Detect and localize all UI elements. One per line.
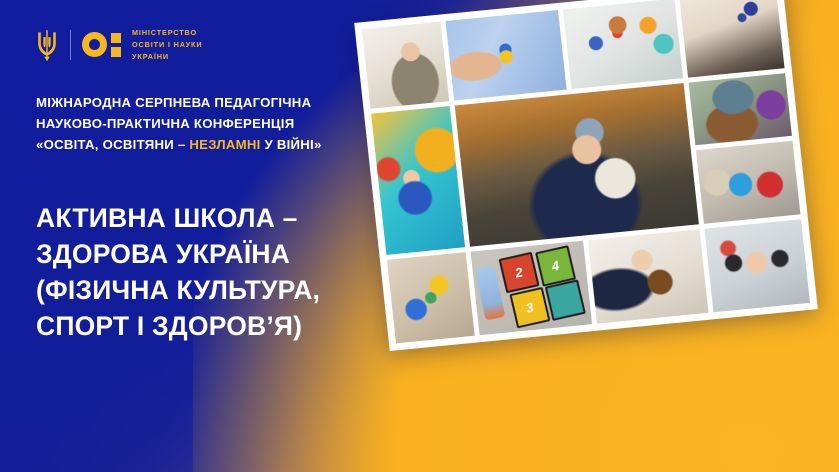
collage-photo-teacher-with-glasses <box>362 22 450 110</box>
photo-image <box>371 106 465 254</box>
collage-photo-boy-with-football <box>455 83 699 246</box>
hopscotch-tile: 3 <box>510 286 551 328</box>
photo-image <box>387 252 475 344</box>
logo-divider <box>70 30 71 60</box>
headline-line-2: ЗДОРОВА УКРАЇНА <box>36 236 320 272</box>
collage-photo-children-building-blocks <box>387 252 475 344</box>
hopscotch-tiles: 2 4 3 <box>471 240 592 335</box>
collage-photo-girl-with-headphones <box>705 219 810 312</box>
photo-image <box>705 219 810 312</box>
headline-line-1: АКТИВНА ШКОЛА – <box>36 200 320 236</box>
collage-photo-hands-typing-laptop <box>680 0 785 78</box>
photo-image <box>696 141 800 224</box>
photo-image <box>680 0 785 78</box>
photo-image <box>362 22 450 110</box>
conference-subtitle: МІЖНАРОДНА СЕРПНЕВА ПЕДАГОГІЧНА НАУКОВО-… <box>36 93 322 156</box>
collage-photo-hopscotch-numbers: 2 4 3 <box>471 240 592 335</box>
collage-photo-graduate-in-cap <box>689 73 792 145</box>
subtitle-line-3-after: У ВІЙНІ» <box>261 137 322 152</box>
mon-ring-squares-icon <box>82 32 121 57</box>
photo-image <box>563 0 684 89</box>
page-title: АКТИВНА ШКОЛА – ЗДОРОВА УКРАЇНА (ФІЗИЧНА… <box>36 200 320 344</box>
ministry-logo: МІНІСТЕРСТВО ОСВІТИ І НАУКИ УКРАЇНИ <box>36 27 202 62</box>
collage-photo-hands-ukrainian-heart <box>446 10 567 101</box>
photo-collage: 2 4 3 <box>354 0 818 351</box>
ring-glyph <box>82 32 107 57</box>
headline-line-3: (ФІЗИЧНА КУЛЬТУРА, <box>36 272 320 308</box>
photo-image <box>446 10 567 101</box>
hopscotch-tile: 2 <box>499 252 540 294</box>
collage-photo-boy-with-robot-kit <box>588 229 709 324</box>
squares-glyph <box>111 33 121 57</box>
photo-image <box>455 83 699 246</box>
subtitle-line-3: «ОСВІТА, ОСВІТЯНИ – НЕЗЛАМНІ У ВІЙНІ» <box>36 135 322 156</box>
ukraine-trident-icon <box>36 28 58 62</box>
headline-line-4: СПОРТ І ЗДОРОВ’Я) <box>36 308 320 344</box>
subtitle-line-1: МІЖНАРОДНА СЕРПНЕВА ПЕДАГОГІЧНА <box>36 93 322 114</box>
collage-photo-children-with-backpacks <box>696 141 800 224</box>
collage-photo-toddler-playroom <box>371 106 465 254</box>
hopscotch-tile <box>545 280 586 322</box>
ministry-name: МІНІСТЕРСТВО ОСВІТИ І НАУКИ УКРАЇНИ <box>132 27 202 62</box>
poster-canvas: МІНІСТЕРСТВО ОСВІТИ І НАУКИ УКРАЇНИ МІЖН… <box>0 0 839 472</box>
subtitle-line-3-before: «ОСВІТА, ОСВІТЯНИ – <box>36 137 189 152</box>
collage-photo-chemistry-lab-student <box>563 0 684 89</box>
subtitle-line-2: НАУКОВО-ПРАКТИЧНА КОНФЕРЕНЦІЯ <box>36 114 322 135</box>
collage-grid: 2 4 3 <box>354 0 818 351</box>
subtitle-highlight: НЕЗЛАМНІ <box>189 137 260 152</box>
child-legs <box>475 265 506 320</box>
photo-image <box>588 229 709 324</box>
photo-image <box>689 73 792 145</box>
